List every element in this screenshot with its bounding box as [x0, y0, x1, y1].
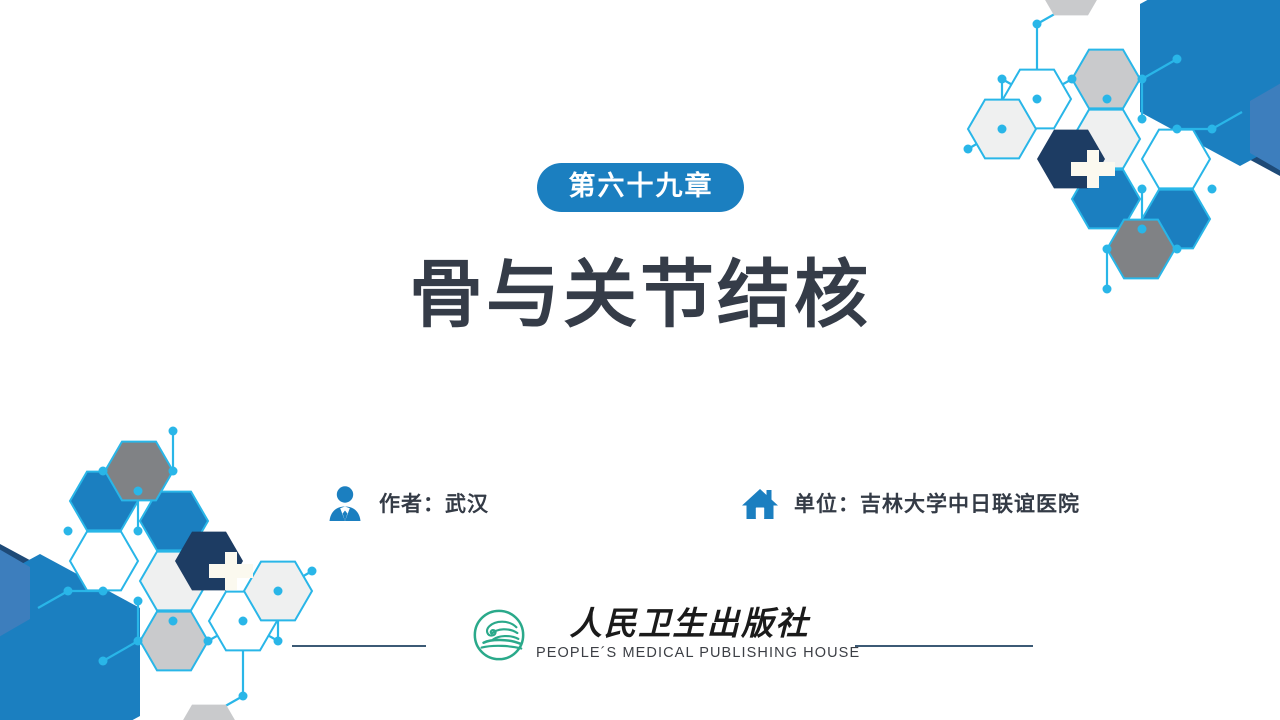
house-icon [740, 483, 780, 523]
publisher-name-en: PEOPLE´S MEDICAL PUBLISHING HOUSE [536, 645, 860, 661]
unit-label: 单位：吉林大学中日联谊医院 [794, 488, 1080, 518]
slide-title: 骨与关节结核 [0, 254, 1280, 335]
publisher-logo-block: 人民卫生出版社 PEOPLE´S MEDICAL PUBLISHING HOUS… [470, 600, 830, 680]
chapter-badge-wrapper: 第六十九章 [0, 163, 1280, 212]
molecule-nodes [964, 0, 1217, 294]
molecule-bonds [968, 0, 1242, 289]
slide-canvas: 第六十九章 骨与关节结核 作者：武汉 单位：吉林大学中日联谊医院 [0, 0, 1280, 720]
chapter-badge: 第六十九章 [537, 163, 744, 212]
publisher-wordmark: 人民卫生出版社 PEOPLE´S MEDICAL PUBLISHING HOUS… [536, 600, 860, 661]
divider-left [292, 645, 426, 647]
footer: 人民卫生出版社 PEOPLE´S MEDICAL PUBLISHING HOUS… [0, 600, 1280, 685]
hexagon-tiles [968, 0, 1210, 278]
meta-row: 作者：武汉 单位：吉林大学中日联谊医院 [0, 478, 1280, 528]
person-icon [325, 483, 365, 523]
medical-cross-hexagon [175, 532, 253, 591]
author-block: 作者：武汉 [325, 478, 489, 528]
large-hexagons [1140, 0, 1280, 179]
author-label: 作者：武汉 [379, 488, 489, 518]
publisher-logo-icon [470, 606, 528, 664]
divider-right [855, 645, 1033, 647]
publisher-name-cn-text: 人民卫生出版社 [570, 606, 812, 642]
unit-block: 单位：吉林大学中日联谊医院 [740, 478, 1080, 528]
publisher-name-cn: 人民卫生出版社 [536, 604, 860, 644]
